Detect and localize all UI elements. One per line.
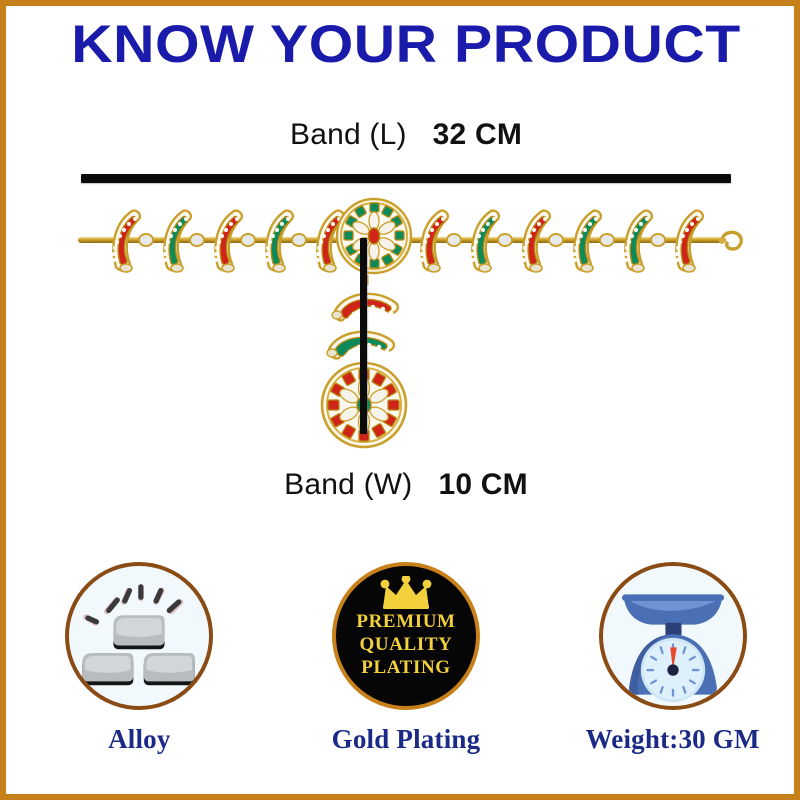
badge-gold-plating: PREMIUM QUALITY PLATING Gold Plating [301, 562, 511, 755]
center-medallion [335, 197, 413, 275]
motif-mango-red-2 [204, 207, 248, 273]
crown-icon [379, 576, 433, 610]
motif-mango-green-4 [563, 207, 607, 273]
plating-badge-circle: PREMIUM QUALITY PLATING [332, 562, 480, 710]
motif-mango-green-3 [461, 207, 505, 273]
motif-mango-red-5 [512, 207, 556, 273]
product-illustration [6, 191, 800, 461]
feature-badges: Alloy PREMIUM QUALITY [6, 562, 800, 792]
badge-gold-plating-label: Gold Plating [301, 724, 511, 755]
plating-line-2: QUALITY [360, 633, 453, 656]
band-length-name: Band (L) [290, 118, 407, 151]
badge-alloy-label: Alloy [34, 724, 244, 755]
page-title: KNOW YOUR PRODUCT [71, 14, 741, 76]
product-infographic: KNOW YOUR PRODUCT Band (L)32 CM [0, 0, 800, 800]
alloy-badge-circle [65, 562, 213, 710]
band-length-value: 32 CM [433, 118, 522, 151]
plating-badge-content: PREMIUM QUALITY PLATING [336, 566, 476, 706]
width-measurement-rule [360, 238, 367, 434]
band-width-value: 10 CM [438, 468, 527, 501]
drop-pendant [302, 275, 432, 455]
band-width-label: Band (W)10 CM [6, 468, 800, 502]
clasp-hook-icon [718, 227, 748, 255]
motif-mango-green-5 [614, 207, 658, 273]
metal-ingots-icon [69, 566, 209, 706]
length-measurement-rule [81, 174, 731, 183]
header: KNOW YOUR PRODUCT [6, 14, 800, 76]
motif-mango-red-6 [665, 207, 709, 273]
plating-line-1: PREMIUM [356, 610, 455, 633]
band-width-name: Band (W) [284, 468, 412, 501]
motif-mango-green-1 [153, 207, 197, 273]
weighing-scale-icon [603, 566, 743, 706]
badge-alloy: Alloy [34, 562, 244, 755]
badge-weight: Weight:30 GM [568, 562, 778, 755]
band-length-label: Band (L)32 CM [6, 118, 800, 152]
plating-line-3: PLATING [361, 656, 450, 679]
motif-mango-red-1 [102, 207, 146, 273]
motif-mango-green-2 [255, 207, 299, 273]
motif-mango-red-4 [410, 207, 454, 273]
badge-weight-label: Weight:30 GM [568, 724, 778, 755]
weight-badge-circle [599, 562, 747, 710]
